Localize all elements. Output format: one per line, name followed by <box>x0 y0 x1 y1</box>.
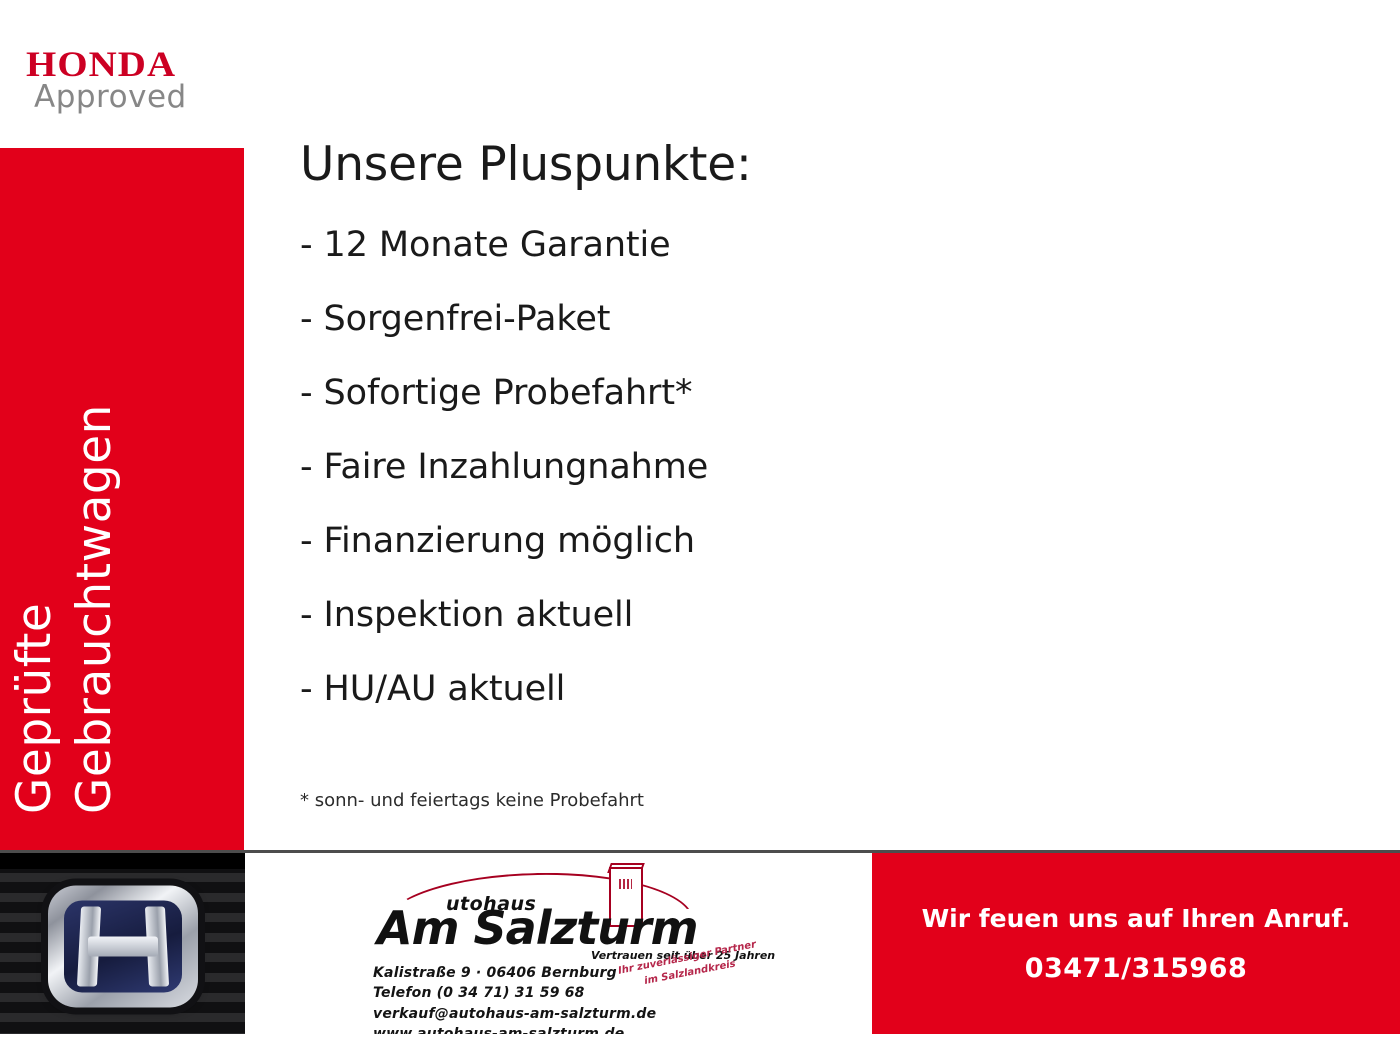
logo-tower-window-icon <box>619 879 632 889</box>
honda-approved-label: Approved <box>34 82 187 113</box>
advertisement-page: HONDA Approved Geprüfte Gebrauchtwagen U… <box>0 0 1400 1050</box>
call-to-action-panel: Wir feuen uns auf Ihren Anruf. 03471/315… <box>872 853 1400 1034</box>
footer: utohaus Am Salzturm Vertrauen seit über … <box>0 850 1400 1034</box>
dealer-contact-info: Kalistraße 9 · 06406 Bernburg Telefon (0… <box>373 963 656 1044</box>
benefits-list: - 12 Monate Garantie - Sorgenfrei-Paket … <box>300 228 708 746</box>
list-item: - Sorgenfrei-Paket <box>300 302 708 376</box>
cta-phone-number[interactable]: 03471/315968 <box>1025 955 1248 982</box>
honda-emblem-inner <box>64 900 182 992</box>
dealer-block: utohaus Am Salzturm Vertrauen seit über … <box>245 853 872 1034</box>
list-item: - 12 Monate Garantie <box>300 228 708 302</box>
honda-wordmark: HONDA <box>26 46 176 82</box>
honda-grille-photo <box>0 853 245 1034</box>
list-item: - Faire Inzahlungnahme <box>300 450 708 524</box>
sidebar-vertical-line-1: Geprüfte <box>11 603 58 814</box>
bottom-strip <box>0 1034 1400 1050</box>
footnote-text: * sonn- und feiertags keine Probefahrt <box>300 792 644 810</box>
honda-h-crossbar <box>88 936 158 956</box>
dealer-logo-main-text: Am Salzturm <box>377 905 698 951</box>
honda-emblem-icon <box>48 885 198 1007</box>
list-item: - Sofortige Probefahrt* <box>300 376 708 450</box>
list-item: - Inspektion aktuell <box>300 598 708 672</box>
main-content: Unsere Pluspunkte: - 12 Monate Garantie … <box>244 0 1400 850</box>
certified-used-car-sidebar: Geprüfte Gebrauchtwagen <box>0 148 244 850</box>
cta-headline: Wir feuen uns auf Ihren Anruf. <box>922 906 1351 931</box>
list-item: - Finanzierung möglich <box>300 524 708 598</box>
list-item: - HU/AU aktuell <box>300 672 708 746</box>
page-title: Unsere Pluspunkte: <box>300 141 752 188</box>
sidebar-vertical-line-2: Gebrauchtwagen <box>71 404 118 814</box>
